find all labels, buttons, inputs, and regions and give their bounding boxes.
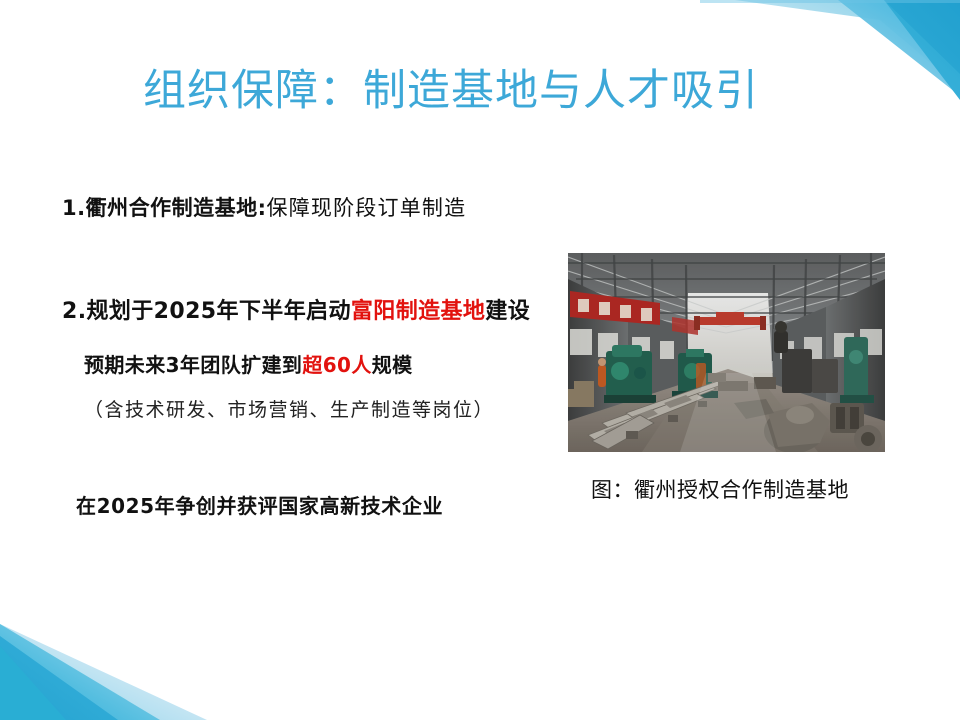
bullet-item-2: 2.规划于2025年下半年启动富阳制造基地建设 xyxy=(62,296,530,328)
bullet-item-2-sub-2: （含技术研发、市场营销、生产制造等岗位） xyxy=(84,396,494,425)
bullet-item-3: 在2025年争创并获评国家高新技术企业 xyxy=(76,491,443,521)
bullet-2-part2: 建设 xyxy=(485,299,530,324)
figure-caption: 图：衢州授权合作制造基地 xyxy=(591,475,849,505)
bullet-1-tail: 保障现阶段订单制造 xyxy=(267,196,467,220)
bullet-item-1: 1.衢州合作制造基地:保障现阶段订单制造 xyxy=(62,193,466,223)
sub1-part1: 预期未来3年团队扩建到 xyxy=(84,353,302,377)
page-title: 组织保障：制造基地与人才吸引 xyxy=(143,63,843,119)
factory-photo xyxy=(568,253,885,452)
slide-canvas: 组织保障：制造基地与人才吸引 1.衢州合作制造基地:保障现阶段订单制造 2.规划… xyxy=(0,0,960,720)
bullet-2-part1: 2.规划于2025年下半年启动 xyxy=(62,299,351,324)
bullet-1-lead: 1.衢州合作制造基地: xyxy=(62,196,267,220)
sub1-part2: 规模 xyxy=(372,353,413,377)
bullet-item-2-sub-1: 预期未来3年团队扩建到超60人规模 xyxy=(84,350,413,380)
sub1-highlight: 超60人 xyxy=(302,353,371,377)
bullet-2-highlight: 富阳制造基地 xyxy=(351,299,485,324)
factory-workshop-image xyxy=(568,253,885,452)
